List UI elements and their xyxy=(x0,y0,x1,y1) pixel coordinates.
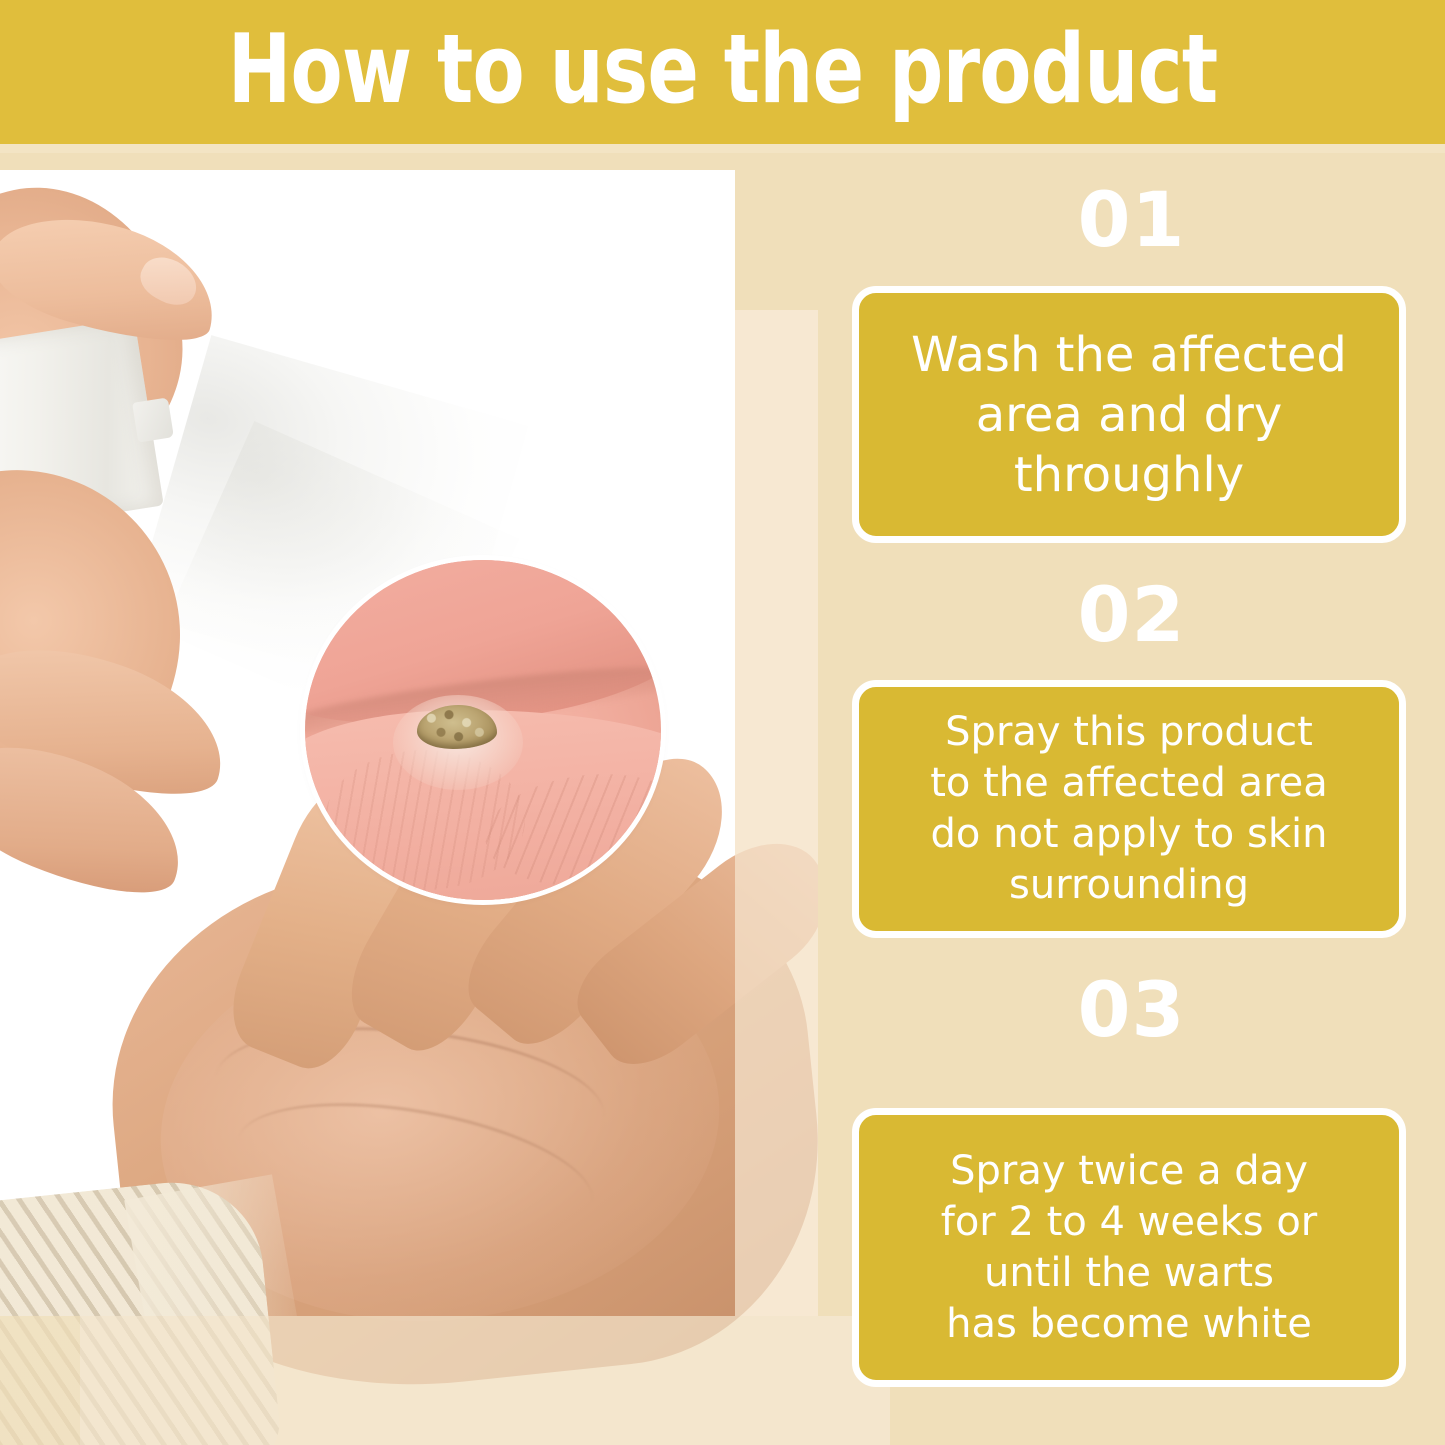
step-03: 03 Spray twice a day for 2 to 4 weeks or… xyxy=(818,968,1445,1052)
header-underline xyxy=(0,144,1445,153)
product-usage-photo xyxy=(0,170,735,1316)
step-number-02: 02 xyxy=(818,573,1445,657)
step-01: 01 Wash the affected area and dry throug… xyxy=(818,178,1445,262)
page-title: How to use the product xyxy=(228,20,1218,120)
wart-closeup-inset xyxy=(305,560,661,900)
infographic-root: How to use the product 01 Wash the affec… xyxy=(0,0,1445,1445)
step-text-01: Wash the affected area and dry throughly xyxy=(885,325,1373,505)
photo-scene xyxy=(0,170,735,1316)
step-number-03: 03 xyxy=(818,968,1445,1052)
step-text-02: Spray this product to the affected area … xyxy=(904,707,1354,911)
header-bar: How to use the product xyxy=(0,0,1445,144)
steps-column: 01 Wash the affected area and dry throug… xyxy=(818,153,1445,1445)
step-card-02[interactable]: Spray this product to the affected area … xyxy=(852,680,1406,938)
step-02: 02 Spray this product to the affected ar… xyxy=(818,573,1445,657)
step-card-03[interactable]: Spray twice a day for 2 to 4 weeks or un… xyxy=(852,1108,1406,1387)
wart-lesion xyxy=(417,705,497,749)
step-text-03: Spray twice a day for 2 to 4 weeks or un… xyxy=(915,1146,1343,1350)
spray-bottle-nozzle xyxy=(132,397,174,442)
step-number-01: 01 xyxy=(818,178,1445,262)
step-card-01[interactable]: Wash the affected area and dry throughly xyxy=(852,286,1406,543)
